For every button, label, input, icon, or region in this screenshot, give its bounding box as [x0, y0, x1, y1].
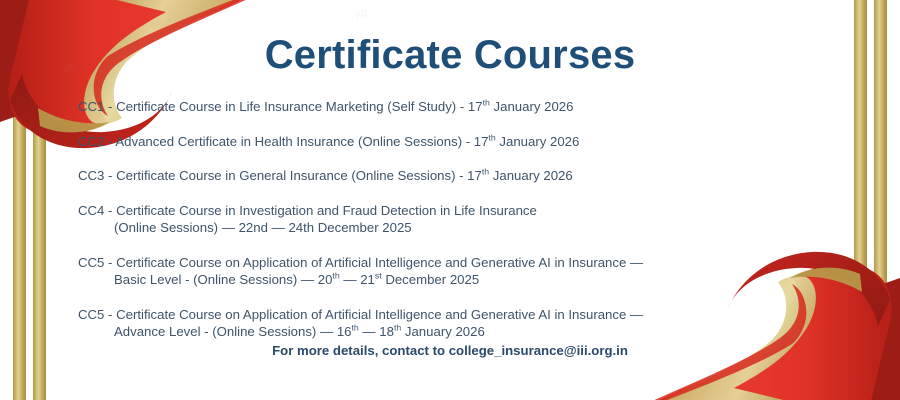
list-item: CC3 - Certificate Course in General Insu…: [78, 167, 838, 185]
course-date: Basic Level - (Online Sessions) — 20th —…: [78, 271, 838, 289]
course-text: CC3 - Certificate Course in General Insu…: [78, 168, 482, 183]
course-date-post: December 2025: [382, 272, 480, 287]
course-date: January 2026: [490, 99, 574, 114]
ordinal-suffix: th: [352, 323, 359, 333]
ordinal-suffix: th: [488, 132, 495, 142]
course-date-pre: Advance Level - (Online Sessions) — 16: [114, 324, 352, 339]
course-date-mid: — 21: [340, 272, 375, 287]
course-date-post: January 2026: [401, 324, 485, 339]
ordinal-suffix: th: [332, 271, 339, 281]
course-list: CC1 - Certificate Course in Life Insuran…: [78, 98, 838, 358]
course-text: CC4 - Certificate Course in Investigatio…: [78, 203, 537, 218]
course-date: (Online Sessions) — 22nd — 24th December…: [78, 219, 838, 237]
list-item: CC1 - Certificate Course in Life Insuran…: [78, 98, 838, 116]
course-date: January 2026: [496, 134, 580, 149]
page-title: Certificate Courses: [0, 33, 900, 78]
list-item: CC5 - Certificate Course on Application …: [78, 254, 838, 289]
course-text: CC2 - Advanced Certificate in Health Ins…: [78, 134, 488, 149]
list-item: CC5 - Certificate Course on Application …: [78, 306, 838, 341]
course-date-pre: Basic Level - (Online Sessions) — 20: [114, 272, 332, 287]
course-text: CC5 - Certificate Course on Application …: [78, 307, 643, 322]
ordinal-suffix: st: [375, 271, 382, 281]
poster-content: Certificate Courses CC1 - Certificate Co…: [0, 0, 900, 400]
contact-details: For more details, contact to college_ins…: [0, 343, 900, 358]
list-item: CC2 - Advanced Certificate in Health Ins…: [78, 133, 838, 151]
course-date-mid: — 18: [359, 324, 394, 339]
course-date: Advance Level - (Online Sessions) — 16th…: [78, 323, 838, 341]
ordinal-suffix: th: [483, 98, 490, 108]
certificate-courses-poster: ee ng ree ee Certificate Courses CC1 - C…: [0, 0, 900, 400]
course-date: January 2026: [489, 168, 573, 183]
course-text: CC5 - Certificate Course on Application …: [78, 255, 643, 270]
list-item: CC4 - Certificate Course in Investigatio…: [78, 202, 838, 237]
course-text: CC1 - Certificate Course in Life Insuran…: [78, 99, 483, 114]
